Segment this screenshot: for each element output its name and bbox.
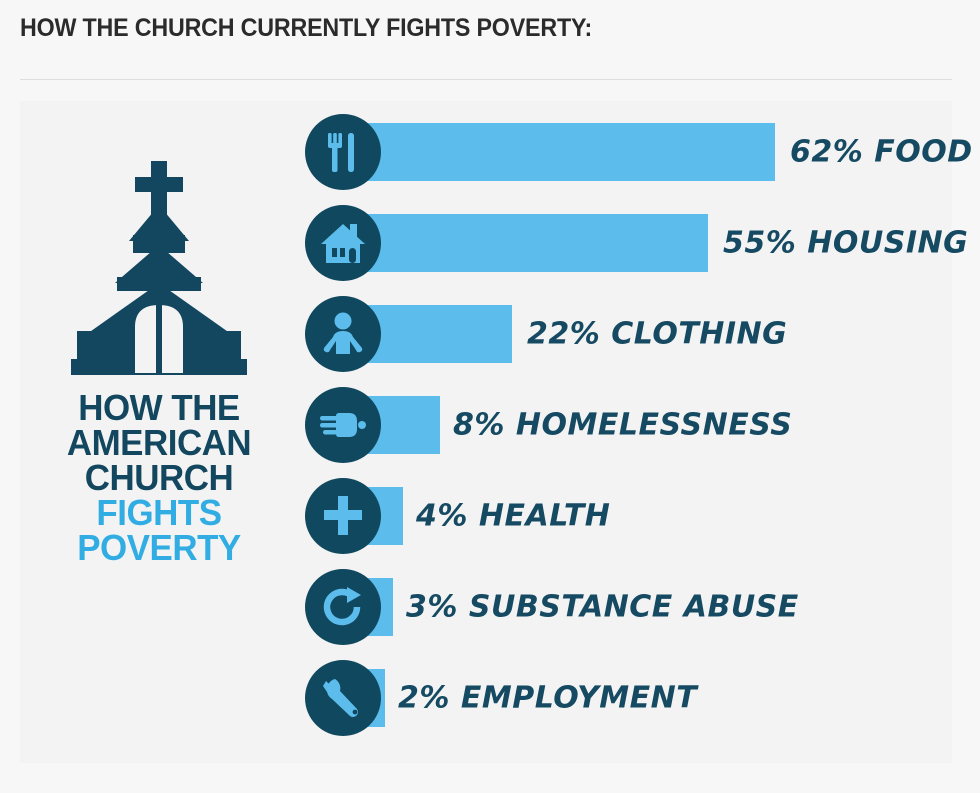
medical-cross-icon — [305, 478, 381, 554]
header-divider — [20, 79, 952, 80]
wrench-icon — [305, 660, 381, 736]
bar-label-health: 4% HEALTH — [416, 499, 610, 534]
page-header: HOW THE CHURCH CURRENTLY FIGHTS POVERTY: — [20, 14, 952, 43]
bar-row-employment[interactable]: 2% EMPLOYMENT — [285, 657, 945, 739]
page-title: HOW THE CHURCH CURRENTLY FIGHTS POVERTY: — [20, 14, 887, 43]
church-icon — [63, 159, 255, 377]
bar-row-clothing[interactable]: 22% CLOTHING — [285, 293, 945, 375]
bar-row-substance-abuse[interactable]: 3% SUBSTANCE ABUSE — [285, 566, 945, 648]
logo-block: HOW THE AMERICAN CHURCH FIGHTS POVERTY — [28, 159, 290, 566]
bar-label-substance-abuse: 3% SUBSTANCE ABUSE — [406, 590, 799, 625]
hand-icon — [305, 387, 381, 463]
bar-fill-housing — [340, 214, 708, 272]
logo-wordmark: HOW THE AMERICAN CHURCH FIGHTS POVERTY — [28, 391, 290, 566]
bar-row-housing[interactable]: 55% HOUSING — [285, 202, 945, 284]
bar-row-homelessness[interactable]: 8% HOMELESSNESS — [285, 384, 945, 466]
house-icon — [305, 205, 381, 281]
recovery-arrow-icon — [305, 569, 381, 645]
person-icon — [305, 296, 381, 372]
logo-line-5: POVERTY — [32, 531, 286, 566]
logo-line-1: HOW THE — [32, 391, 286, 426]
cutlery-icon — [305, 114, 381, 190]
bar-label-clothing: 22% CLOTHING — [527, 317, 787, 352]
logo-line-2: AMERICAN — [32, 426, 286, 461]
logo-line-3: CHURCH — [32, 461, 286, 496]
bar-label-homelessness: 8% HOMELESSNESS — [453, 408, 792, 443]
bar-chart: 62% FOOD 55% HOUS — [285, 111, 945, 761]
bar-fill-food — [340, 123, 775, 181]
infographic-panel: HOW THE AMERICAN CHURCH FIGHTS POVERTY — [20, 101, 952, 763]
bar-row-health[interactable]: 4% HEALTH — [285, 475, 945, 557]
bar-row-food[interactable]: 62% FOOD — [285, 111, 945, 193]
bar-label-housing: 55% HOUSING — [723, 226, 968, 261]
bar-label-food: 62% FOOD — [790, 135, 973, 170]
bar-label-employment: 2% EMPLOYMENT — [398, 681, 697, 716]
logo-line-4: FIGHTS — [32, 496, 286, 531]
